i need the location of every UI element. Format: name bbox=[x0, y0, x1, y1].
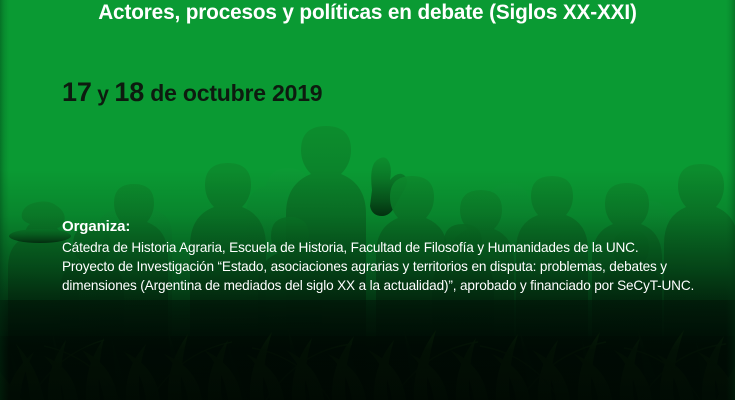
organizers-heading: Organiza: bbox=[62, 216, 702, 237]
organizers-paragraph-1: Cátedra de Historia Agraria, Escuela de … bbox=[62, 238, 702, 257]
green-background bbox=[0, 0, 735, 400]
event-date-conjunction: y bbox=[97, 83, 108, 106]
organizers-block: Organiza: Cátedra de Historia Agraria, E… bbox=[62, 216, 702, 296]
organizers-paragraph-2: Proyecto de Investigación “Estado, asoci… bbox=[62, 257, 702, 295]
event-date-month-year: de octubre 2019 bbox=[150, 80, 322, 106]
vignette-overlay bbox=[0, 0, 735, 400]
event-date: 17 y 18 de octubre 2019 bbox=[62, 76, 322, 111]
event-poster: Actores, procesos y políticas en debate … bbox=[0, 0, 735, 400]
edge-shadow-rails bbox=[0, 0, 735, 400]
event-date-day-first: 17 bbox=[62, 77, 92, 107]
crowd-silhouette-illustration bbox=[0, 0, 735, 400]
bottom-darkening-gradient bbox=[0, 0, 735, 400]
event-date-day-second: 18 bbox=[114, 77, 144, 107]
poster-subtitle: Actores, procesos y políticas en debate … bbox=[13, 0, 722, 26]
